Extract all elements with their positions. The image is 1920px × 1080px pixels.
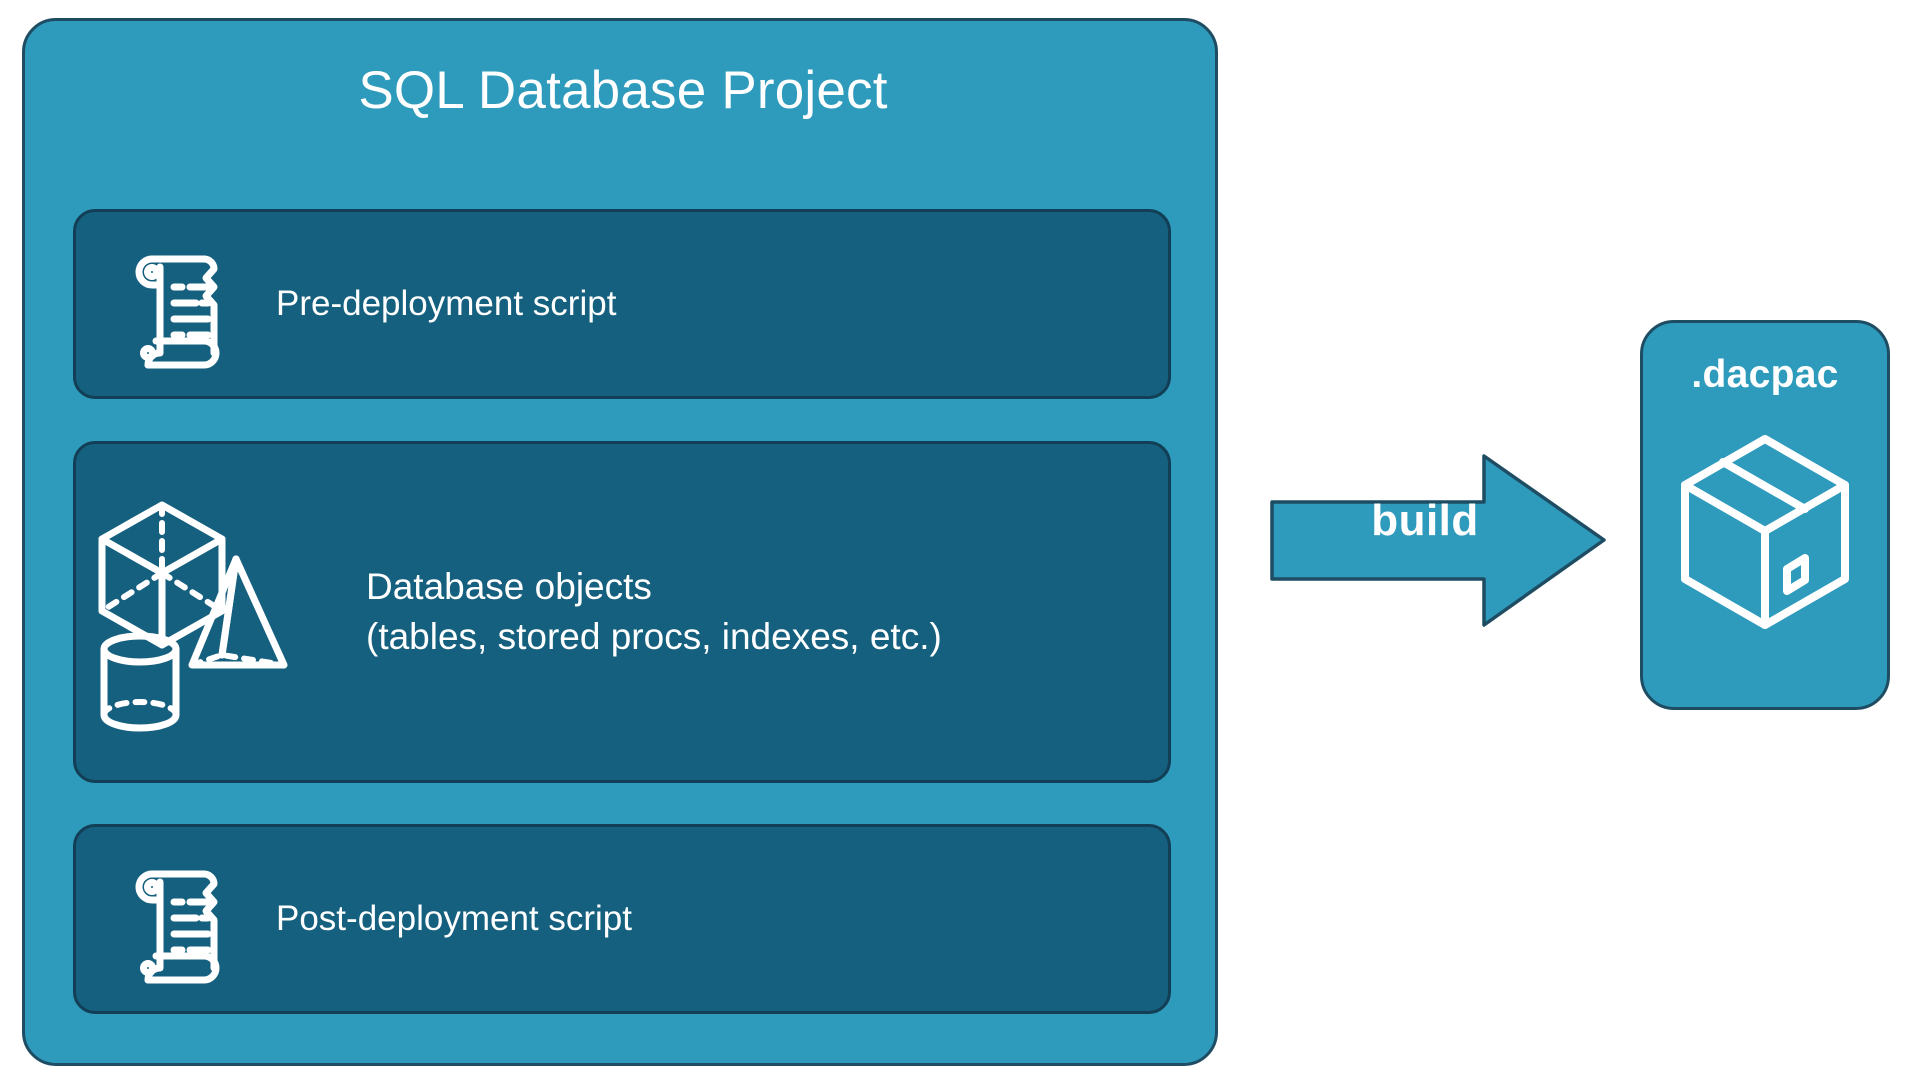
scroll-icon bbox=[76, 854, 276, 984]
card-post-deployment-label: Post-deployment script bbox=[276, 895, 1168, 943]
diagram-canvas: SQL Database Project bbox=[0, 0, 1920, 1080]
card-pre-deployment-label: Pre-deployment script bbox=[276, 280, 1168, 328]
three-d-shapes-icon bbox=[76, 487, 366, 737]
right-arrow-icon bbox=[1268, 448, 1610, 633]
cube-shape bbox=[102, 505, 222, 645]
sql-database-project-panel: SQL Database Project bbox=[22, 18, 1218, 1066]
card-database-objects-label: Database objects (tables, stored procs, … bbox=[366, 562, 1168, 662]
project-panel-title: SQL Database Project bbox=[25, 61, 1221, 121]
card-database-objects[interactable]: Database objects (tables, stored procs, … bbox=[73, 441, 1171, 783]
card-database-objects-line2: (tables, stored procs, indexes, etc.) bbox=[366, 612, 1138, 662]
dacpac-title: .dacpac bbox=[1643, 353, 1887, 397]
scroll-icon bbox=[76, 239, 276, 369]
cylinder-shape bbox=[104, 636, 176, 728]
card-database-objects-line1: Database objects bbox=[366, 562, 1138, 612]
package-box-icon bbox=[1665, 423, 1865, 663]
card-post-deployment[interactable]: Post-deployment script bbox=[73, 824, 1171, 1014]
dacpac-output-panel: .dacpac bbox=[1640, 320, 1890, 710]
pyramid-shape bbox=[192, 559, 284, 665]
card-pre-deployment[interactable]: Pre-deployment script bbox=[73, 209, 1171, 399]
